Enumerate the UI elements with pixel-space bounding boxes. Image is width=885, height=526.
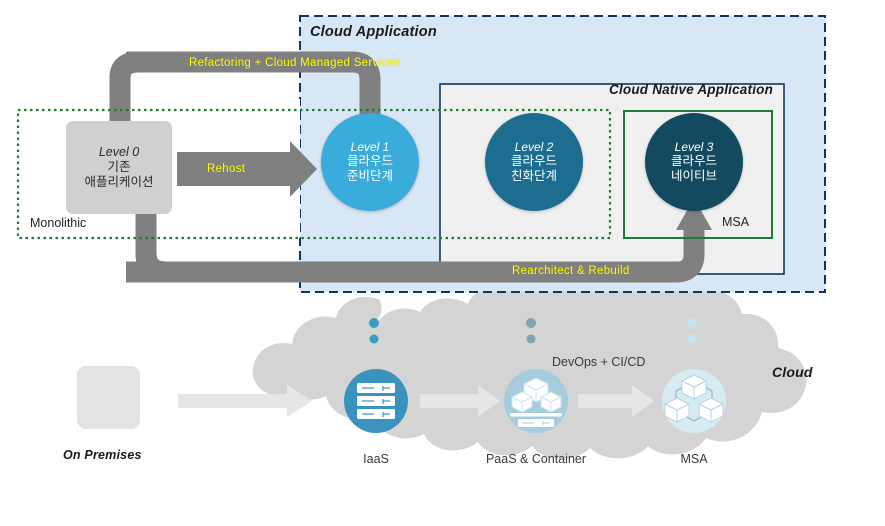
- level0-box[interactable]: Level 0 기존 애플리케이션: [66, 121, 172, 214]
- dot-iaas-1: [369, 318, 379, 328]
- level0-line1: 기존: [107, 160, 130, 175]
- msa-node-label: MSA: [670, 452, 718, 466]
- level2-line2: 친화단계: [511, 169, 557, 184]
- level2-line1: 클라우드: [511, 154, 557, 169]
- dot-msa-1: [687, 318, 697, 328]
- level0-line2: 애플리케이션: [84, 175, 153, 190]
- refactoring-label: Refactoring + Cloud Managed Services: [189, 57, 400, 69]
- iaas-label: IaaS: [356, 452, 396, 466]
- level3-title: Level 3: [675, 140, 714, 154]
- level1-line1: 클라우드: [347, 154, 393, 169]
- container-shelf: [510, 413, 562, 417]
- dot-paas-2: [527, 335, 536, 344]
- cloud-native-application-title: Cloud Native Application: [609, 82, 773, 97]
- dot-msa-2: [688, 335, 697, 344]
- rehost-label: Rehost: [207, 163, 245, 175]
- on-premises-label: On Premises: [63, 448, 142, 462]
- dot-iaas-2: [370, 335, 379, 344]
- rearchitect-label: Rearchitect & Rebuild: [512, 265, 630, 277]
- arrow-onprem-to-iaas: [178, 385, 312, 417]
- paas-label: PaaS & Container: [466, 452, 606, 466]
- level0-title: Level 0: [99, 145, 139, 160]
- level1-line2: 준비단계: [347, 169, 393, 184]
- level3-line2: 네이티브: [671, 169, 717, 184]
- level1-circle[interactable]: Level 1 클라우드 준비단계: [321, 113, 419, 211]
- cloud-label: Cloud: [772, 364, 813, 380]
- level1-title: Level 1: [351, 140, 390, 154]
- left-white-band-2: [0, 238, 120, 256]
- level2-circle[interactable]: Level 2 클라우드 친화단계: [485, 113, 583, 211]
- level3-line1: 클라우드: [671, 154, 717, 169]
- diagram-canvas: Level 0 기존 애플리케이션 Level 1 클라우드 준비단계 Leve…: [0, 0, 885, 526]
- on-premises-tile: [77, 366, 140, 429]
- monolithic-label: Monolithic: [30, 216, 86, 230]
- msa-label: MSA: [722, 215, 749, 229]
- devops-label: DevOps + CI/CD: [552, 355, 645, 369]
- level2-title: Level 2: [515, 140, 554, 154]
- dot-paas-1: [526, 318, 536, 328]
- level3-circle[interactable]: Level 3 클라우드 네이티브: [645, 113, 743, 211]
- cloud-application-title: Cloud Application: [310, 24, 437, 40]
